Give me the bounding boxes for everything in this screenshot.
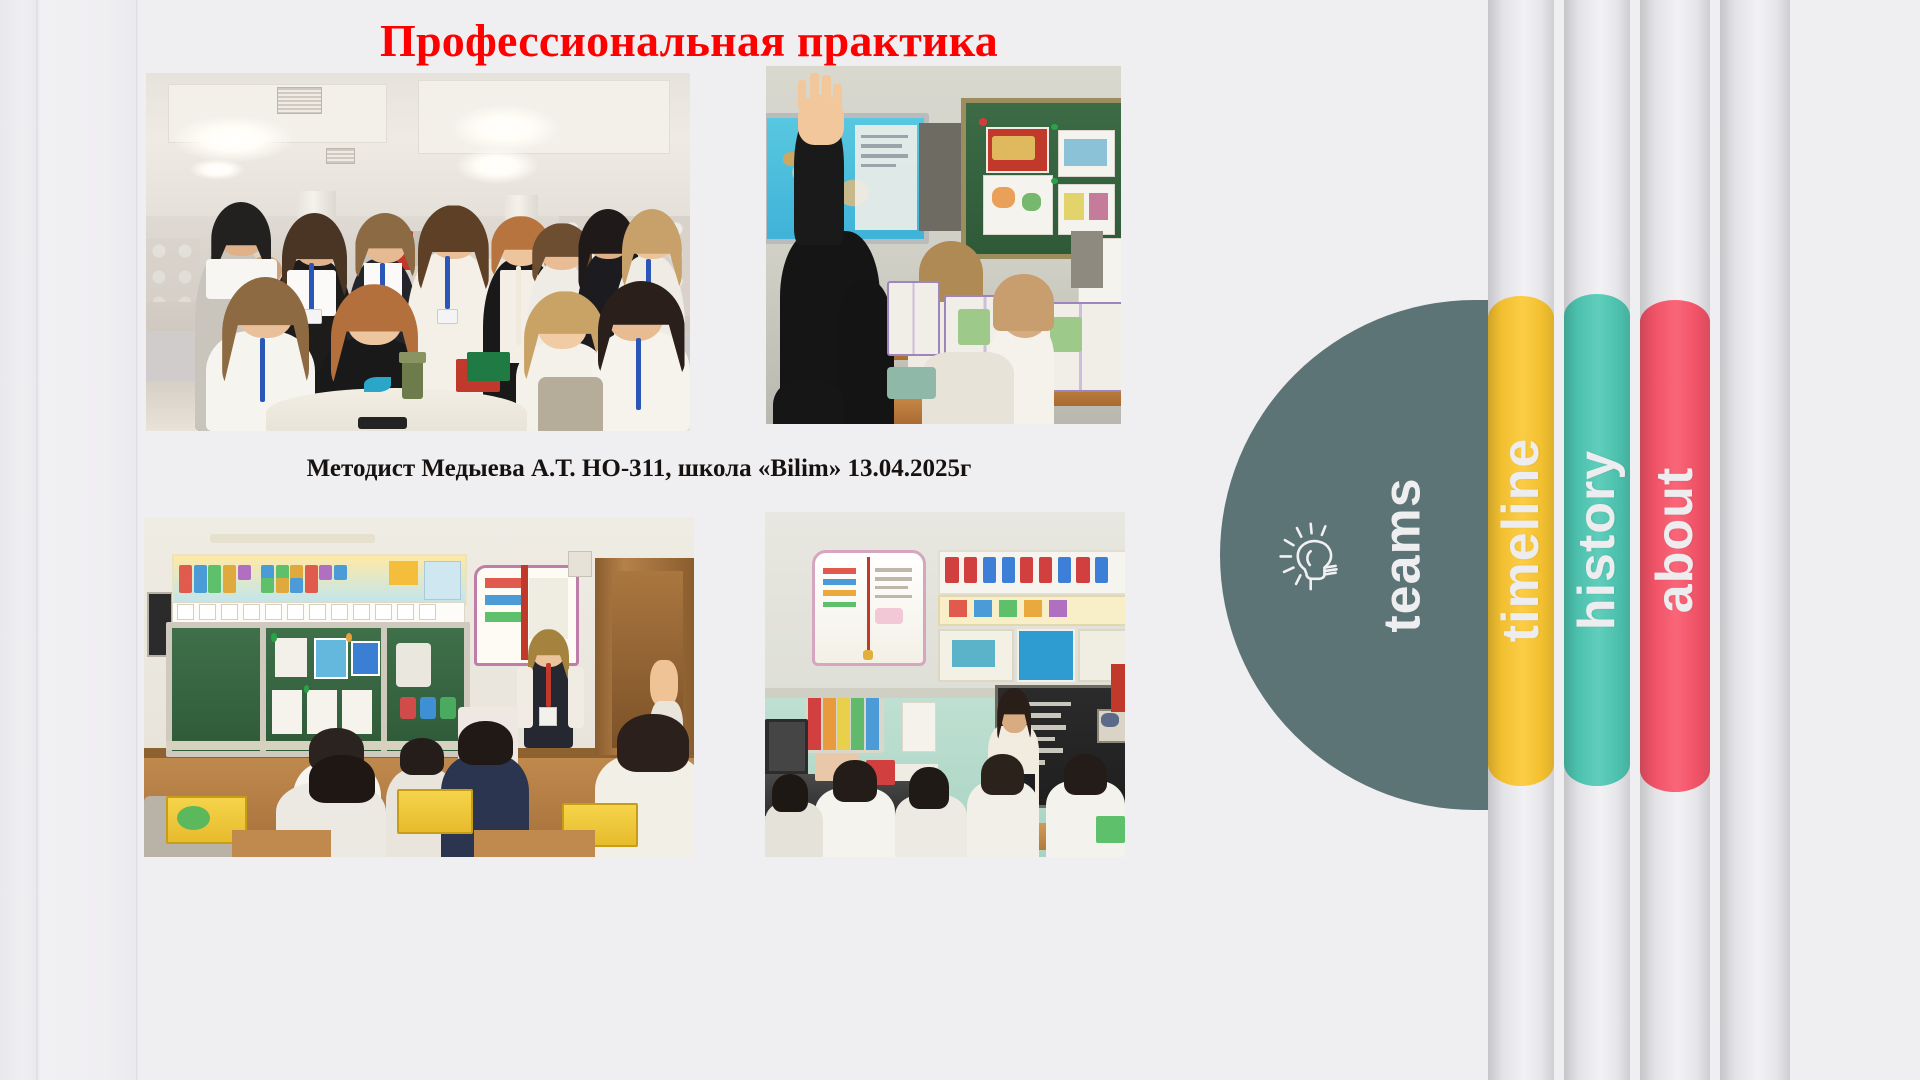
tab-timeline[interactable]: timeline xyxy=(1488,0,1554,1080)
tab-about[interactable]: about xyxy=(1640,0,1710,1080)
tab-column-edge xyxy=(1720,0,1790,1080)
photo-group-students-hall[interactable] xyxy=(146,73,690,431)
tab-teams[interactable]: teams xyxy=(1220,300,1488,810)
background-strip-column xyxy=(40,0,136,1080)
background-strip-left xyxy=(0,0,36,1080)
lightbulb-icon xyxy=(1272,516,1358,602)
slide-canvas: Профессиональная практика xyxy=(139,0,1920,1080)
photo-classroom-chalkboard[interactable] xyxy=(144,517,694,857)
page-title: Профессиональная практика xyxy=(139,14,1239,67)
background-strip-divider-1 xyxy=(36,0,40,1080)
tab-about-label: about xyxy=(1645,467,1705,614)
slide-caption: Методист Медыева А.Т. НО-311, школа «Bil… xyxy=(139,455,1139,483)
tab-timeline-label: timeline xyxy=(1491,438,1551,643)
tab-teams-label: teams xyxy=(1372,477,1432,632)
tab-column-edge-shaft xyxy=(1720,0,1790,1080)
tab-history-label: history xyxy=(1567,450,1627,630)
photo-lesson-map[interactable] xyxy=(766,66,1121,424)
tab-history[interactable]: history xyxy=(1564,0,1630,1080)
photo-classroom-republic-day[interactable] xyxy=(765,512,1125,857)
